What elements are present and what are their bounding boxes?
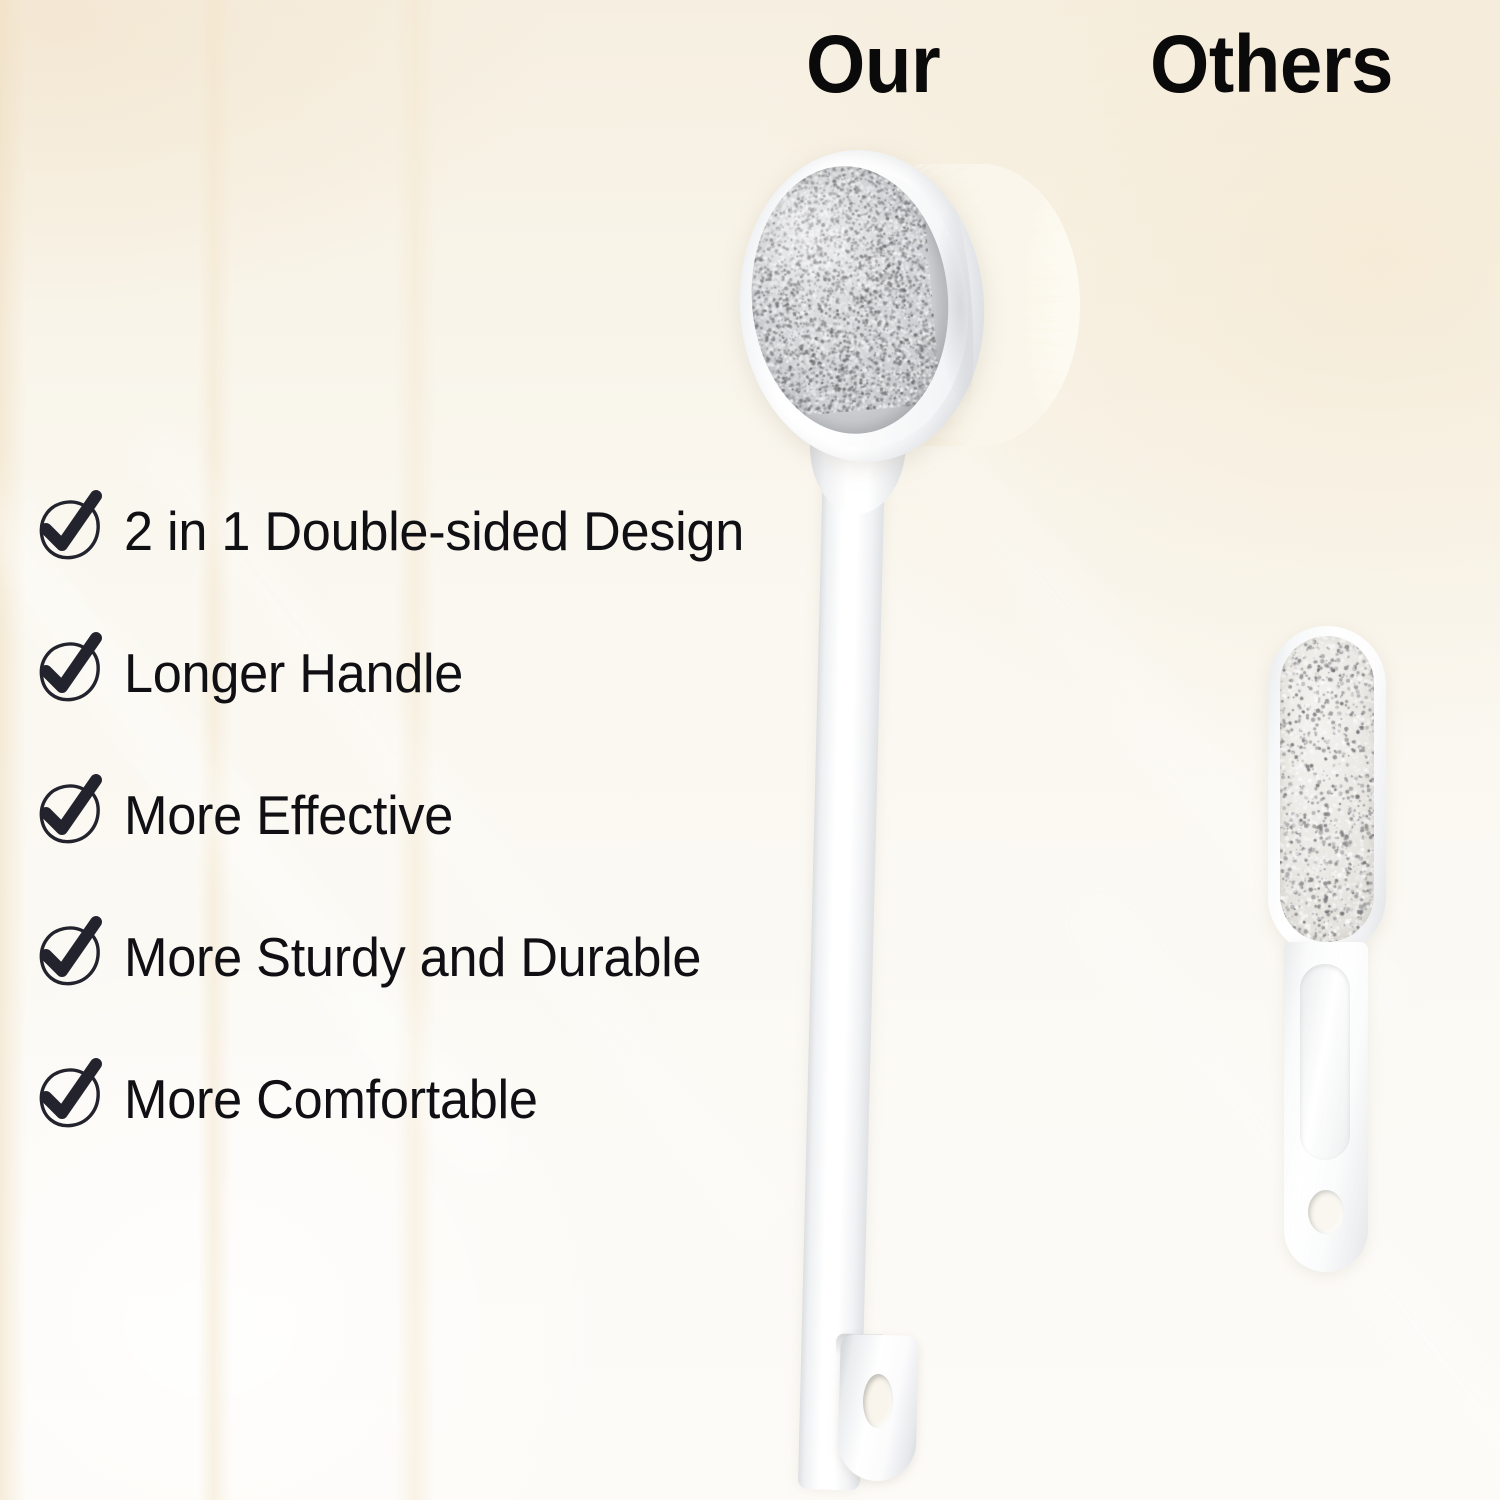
feature-label: 2 in 1 Double-sided Design: [124, 504, 744, 559]
others-pumice-texture: [1280, 636, 1374, 942]
feature-label: Longer Handle: [124, 646, 463, 701]
check-circle-icon: [30, 777, 106, 853]
check-circle-icon: [30, 493, 106, 569]
column-header-others: Others: [1150, 24, 1393, 106]
our-product-image: [700, 120, 1120, 1500]
check-circle-icon: [30, 919, 106, 995]
check-circle-icon: [30, 635, 106, 711]
column-header-ours: Our: [806, 24, 940, 106]
check-circle-icon: [30, 1061, 106, 1137]
others-product-image: [1256, 612, 1436, 1312]
feature-label: More Comfortable: [124, 1072, 538, 1127]
feature-label: More Sturdy and Durable: [124, 930, 701, 985]
brush-head: [718, 138, 1078, 468]
pumice-texture: [741, 158, 942, 421]
product-comparison-image: Our Others 2 in 1 Double-sided Design Lo…: [0, 0, 1500, 1500]
others-hanging-hole: [1308, 1190, 1344, 1234]
feature-label: More Effective: [124, 788, 453, 843]
brush-handle-shaft: [798, 419, 886, 1490]
others-pumice-pad: [1280, 636, 1374, 942]
others-handle-groove: [1300, 964, 1350, 1160]
